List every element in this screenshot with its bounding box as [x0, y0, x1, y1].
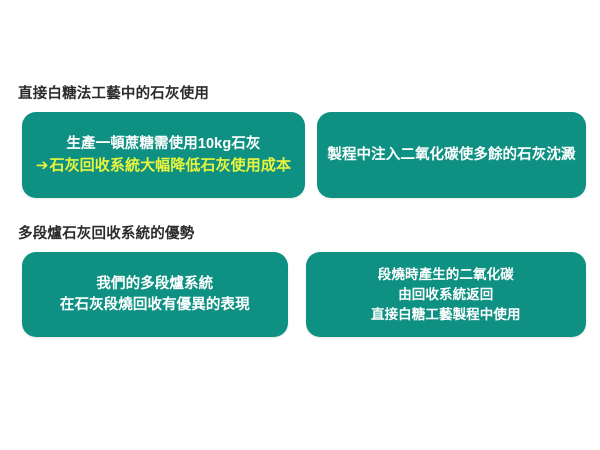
card-line-accent-text: 石灰回收系統大幅降低石灰使用成本 — [49, 157, 291, 174]
card-co2-recycle[interactable]: 段燒時產生的二氧化碳 由回收系統返回 直接白糖工藝製程中使用 — [306, 252, 586, 337]
card-system-performance[interactable]: 我們的多段爐系統 在石灰段燒回收有優異的表現 — [22, 252, 288, 337]
card-line: 直接白糖工藝製程中使用 — [371, 305, 521, 325]
card-line: 生產一頓蔗糖需使用10kg石灰 — [66, 134, 260, 155]
cards-row-2: 我們的多段爐系統 在石灰段燒回收有優異的表現 段燒時產生的二氧化碳 由回收系統返… — [0, 252, 600, 337]
section-multiple-hearth-advantages: 多段爐石灰回收系統的優勢 我們的多段爐系統 在石灰段燒回收有優異的表現 段燒時產… — [0, 224, 600, 337]
card-line: 在石灰段燒回收有優異的表現 — [60, 295, 250, 316]
card-co2-injection[interactable]: 製程中注入二氧化碳使多餘的石灰沈澱 — [317, 112, 586, 198]
arrow-right-icon: ➔ — [36, 155, 49, 176]
slide-canvas: 直接白糖法工藝中的石灰使用 生產一頓蔗糖需使用10kg石灰 ➔石灰回收系統大幅降… — [0, 0, 600, 450]
section-heading-1: 直接白糖法工藝中的石灰使用 — [18, 84, 600, 104]
card-lime-consumption[interactable]: 生產一頓蔗糖需使用10kg石灰 ➔石灰回收系統大幅降低石灰使用成本 — [22, 112, 305, 198]
cards-row-1: 生產一頓蔗糖需使用10kg石灰 ➔石灰回收系統大幅降低石灰使用成本 製程中注入二… — [0, 112, 600, 198]
section-heading-2: 多段爐石灰回收系統的優勢 — [18, 224, 600, 244]
card-line: 製程中注入二氧化碳使多餘的石灰沈澱 — [327, 145, 575, 166]
card-line-accent: ➔石灰回收系統大幅降低石灰使用成本 — [36, 155, 291, 176]
card-line: 我們的多段爐系統 — [96, 274, 213, 295]
card-line: 段燒時產生的二氧化碳 — [378, 265, 514, 285]
section-lime-usage: 直接白糖法工藝中的石灰使用 生產一頓蔗糖需使用10kg石灰 ➔石灰回收系統大幅降… — [0, 84, 600, 198]
card-line: 由回收系統返回 — [398, 285, 493, 305]
